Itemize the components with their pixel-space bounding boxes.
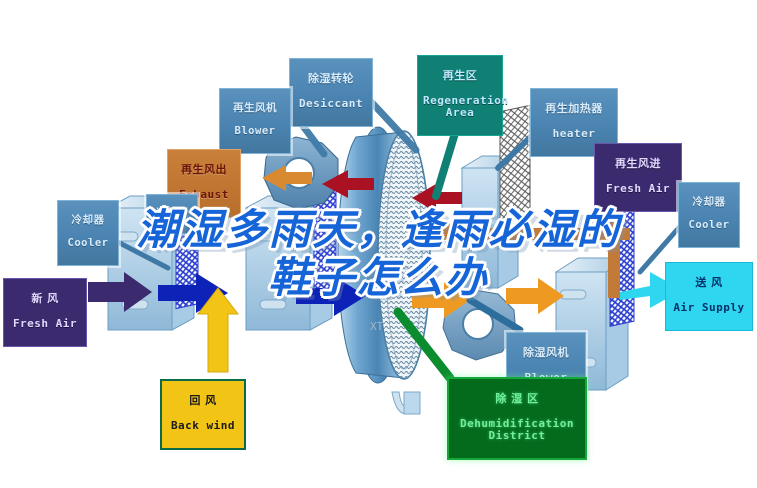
- label-dehumid-district-en: Dehumidification District: [454, 418, 580, 443]
- label-dehumid-district: 除 湿 区 Dehumidification District: [447, 377, 587, 460]
- label-cooler-right: 冷却器 Cooler: [678, 182, 740, 248]
- svg-text:XT: XT: [370, 320, 384, 333]
- label-desiccant-wheel-en: Desiccant: [295, 98, 367, 110]
- label-regen-blower-en: Blower: [225, 126, 285, 138]
- label-regeneration-area-en: Regeneration Area: [423, 95, 497, 120]
- label-cooler-left-cn: 冷却器: [63, 215, 113, 227]
- label-regen-fresh-air: 再生风进 Fresh Air: [594, 143, 682, 212]
- label-desiccant-wheel: 除湿转轮 Desiccant: [289, 58, 373, 127]
- label-back-wind-cn: 回 风: [167, 395, 239, 407]
- label-cooler-mid: 冷却器: [146, 194, 198, 234]
- label-fresh-air-in-en: Fresh Air: [9, 318, 81, 330]
- label-regen-exhaust-cn: 再生风出: [173, 164, 235, 176]
- label-dehumid-district-cn: 除 湿 区: [454, 393, 580, 405]
- label-regen-fresh-air-cn: 再生风进: [600, 158, 676, 170]
- label-regen-blower-cn: 再生风机: [225, 103, 285, 115]
- label-regen-heater-cn: 再生加热器: [536, 103, 612, 115]
- label-air-supply-en: Air Supply: [671, 302, 747, 314]
- label-dehumid-blower-cn: 除湿风机: [512, 347, 580, 359]
- label-air-supply-cn: 送 风: [671, 277, 747, 289]
- label-back-wind-en: Back wind: [167, 420, 239, 432]
- label-cooler-right-cn: 冷却器: [684, 197, 734, 209]
- label-desiccant-wheel-cn: 除湿转轮: [295, 73, 367, 85]
- arrow-dry-air-2: [506, 278, 564, 314]
- label-regen-heater-en: heater: [536, 128, 612, 140]
- label-fresh-air-in: 新 风 Fresh Air: [3, 278, 87, 347]
- label-cooler-right-en: Cooler: [684, 220, 734, 232]
- label-regeneration-area: 再生区 Regeneration Area: [417, 55, 503, 136]
- label-fresh-air-in-cn: 新 风: [9, 293, 81, 305]
- label-regen-fresh-air-en: Fresh Air: [600, 183, 676, 195]
- label-cooler-left: 冷却器 Cooler: [57, 200, 119, 266]
- label-cooler-left-en: Cooler: [63, 238, 113, 250]
- arrow-heater-in: [430, 220, 630, 248]
- label-regen-blower: 再生风机 Blower: [219, 88, 291, 154]
- label-regeneration-area-cn: 再生区: [423, 70, 497, 82]
- label-cooler-mid-cn: 冷却器: [151, 208, 193, 219]
- dehumidifier-schematic-image: XT: [0, 0, 757, 488]
- label-air-supply: 送 风 Air Supply: [665, 262, 753, 331]
- label-back-wind: 回 风 Back wind: [160, 379, 246, 450]
